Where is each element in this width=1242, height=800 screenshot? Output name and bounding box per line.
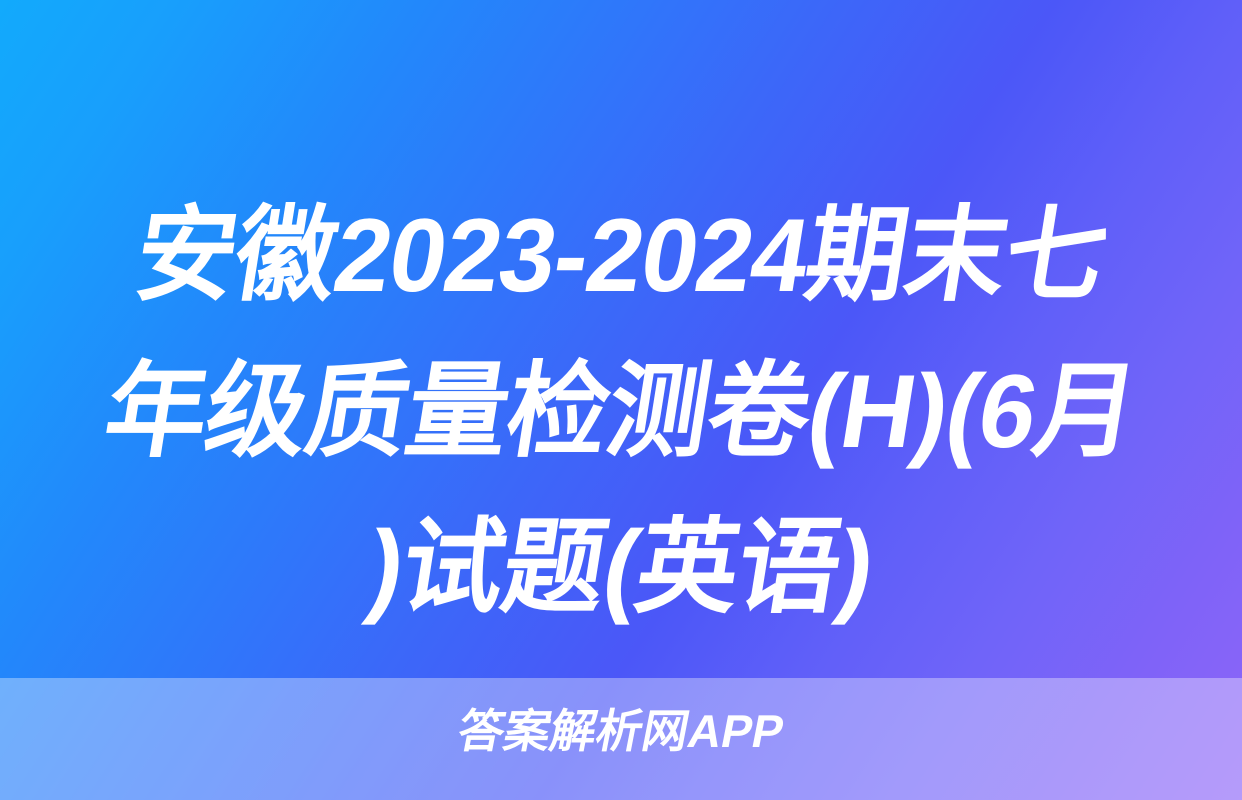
title-card: 安徽2023-2024期末七 年级质量检测卷(H)(6月 )试题(英语) 答案解…: [0, 0, 1242, 800]
title-line-2: 年级质量检测卷(H)(6月: [58, 334, 1184, 490]
watermark-brand: 答案解析网APP: [0, 702, 1242, 760]
title-block: 安徽2023-2024期末七 年级质量检测卷(H)(6月 )试题(英语): [0, 178, 1242, 646]
title-line-1: 安徽2023-2024期末七: [63, 178, 1178, 334]
title-line-3: )试题(英语): [55, 490, 1187, 646]
